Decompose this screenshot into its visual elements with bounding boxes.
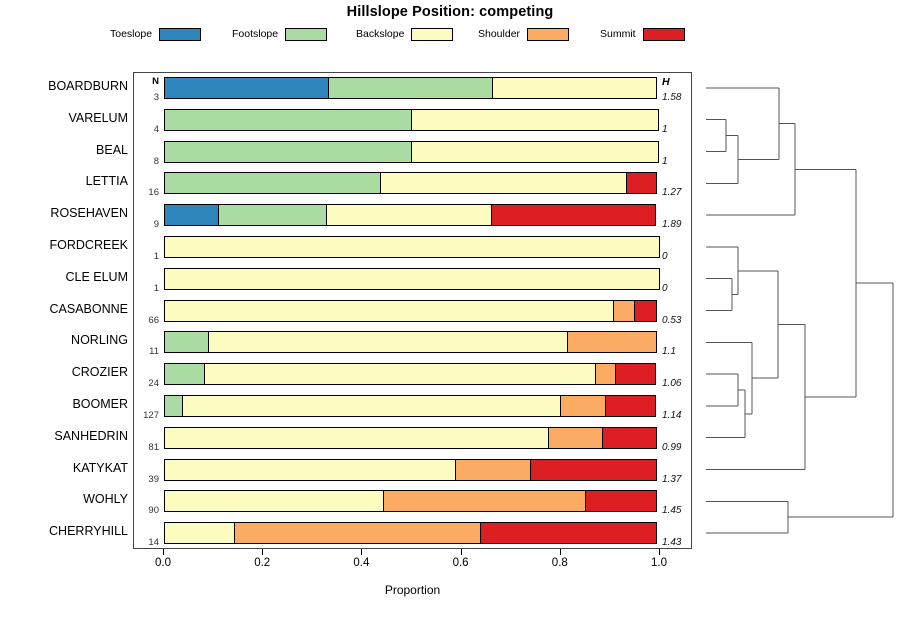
bar-segment-summit[interactable] <box>585 490 657 512</box>
bar-row <box>134 300 693 322</box>
bar-segment-backslope[interactable] <box>380 172 628 194</box>
bar-segment-footslope[interactable] <box>164 141 412 163</box>
bar-segment-footslope[interactable] <box>164 363 205 385</box>
bar-row <box>134 204 693 226</box>
stacked-bar[interactable] <box>164 236 660 258</box>
stacked-bar[interactable] <box>164 331 660 353</box>
bar-segment-toeslope[interactable] <box>164 77 329 99</box>
stacked-bar[interactable] <box>164 363 660 385</box>
bar-row <box>134 395 693 417</box>
bar-segment-backslope[interactable] <box>411 109 659 131</box>
dendrogram-svg <box>700 72 896 549</box>
x-tick <box>163 549 164 555</box>
bar-row <box>134 459 693 481</box>
x-tick <box>262 549 263 555</box>
bar-segment-backslope[interactable] <box>164 522 235 544</box>
bar-row <box>134 109 693 131</box>
stacked-bar[interactable] <box>164 141 660 163</box>
y-axis-label-wohly: WOHLY <box>0 492 128 506</box>
bar-row <box>134 427 693 449</box>
bar-segment-backslope[interactable] <box>164 300 615 322</box>
legend-item-backslope: Backslope <box>356 25 453 43</box>
y-axis-label-boardburn: BOARDBURN <box>0 79 128 93</box>
bar-segment-shoulder[interactable] <box>383 490 587 512</box>
y-axis-label-sanhedrin: SANHEDRIN <box>0 429 128 443</box>
stacked-bar[interactable] <box>164 172 660 194</box>
y-axis-label-rosehaven: ROSEHAVEN <box>0 206 128 220</box>
x-axis-title: Proportion <box>133 583 692 597</box>
bar-segment-summit[interactable] <box>615 363 656 385</box>
y-axis-label-norling: NORLING <box>0 333 128 347</box>
y-axis-labels: BOARDBURNVARELUMBEALLETTIAROSEHAVENFORDC… <box>0 72 128 549</box>
y-axis-label-varelum: VARELUM <box>0 111 128 125</box>
bar-row <box>134 77 693 99</box>
x-tick <box>659 549 660 555</box>
bar-row <box>134 268 693 290</box>
y-axis-label-lettia: LETTIA <box>0 174 128 188</box>
y-axis-label-katykat: KATYKAT <box>0 461 128 475</box>
stacked-bar[interactable] <box>164 522 660 544</box>
x-tick-label: 0.6 <box>453 557 469 569</box>
bar-segment-summit[interactable] <box>602 427 657 449</box>
bar-segment-footslope[interactable] <box>218 204 328 226</box>
legend-swatch-backslope <box>411 28 453 41</box>
legend-swatch-shoulder <box>527 28 569 41</box>
bar-segment-shoulder[interactable] <box>455 459 531 481</box>
y-axis-label-beal: BEAL <box>0 143 128 157</box>
y-axis-label-boomer: BOOMER <box>0 397 128 411</box>
bar-segment-backslope[interactable] <box>164 459 457 481</box>
legend-item-shoulder: Shoulder <box>478 25 569 43</box>
bar-segment-summit[interactable] <box>626 172 657 194</box>
x-tick-label: 0.8 <box>552 557 568 569</box>
bar-segment-footslope[interactable] <box>164 109 412 131</box>
legend-swatch-toeslope <box>159 28 201 41</box>
legend-item-summit: Summit <box>600 25 685 43</box>
dendrogram <box>700 72 896 549</box>
bar-segment-shoulder[interactable] <box>567 331 657 353</box>
stacked-bar[interactable] <box>164 459 660 481</box>
bar-segment-backslope[interactable] <box>208 331 569 353</box>
bar-segment-backslope[interactable] <box>492 77 658 99</box>
x-tick-label: 0.4 <box>353 557 369 569</box>
bar-segment-footslope[interactable] <box>164 331 209 353</box>
bar-segment-shoulder[interactable] <box>595 363 616 385</box>
bar-segment-summit[interactable] <box>530 459 657 481</box>
bar-segment-backslope[interactable] <box>326 204 492 226</box>
bar-segment-footslope[interactable] <box>164 395 183 417</box>
bar-segment-summit[interactable] <box>480 522 657 544</box>
bar-row <box>134 490 693 512</box>
bar-row <box>134 522 693 544</box>
y-axis-label-fordcreek: FORDCREEK <box>0 238 128 252</box>
bar-segment-backslope[interactable] <box>411 141 659 163</box>
bar-row <box>134 363 693 385</box>
y-axis-label-crozier: CROZIER <box>0 365 128 379</box>
y-axis-label-cherryhill: CHERRYHILL <box>0 524 128 538</box>
chart-title: Hillslope Position: competing <box>0 4 900 20</box>
bar-row <box>134 141 693 163</box>
stacked-bar[interactable] <box>164 109 660 131</box>
bar-segment-backslope[interactable] <box>164 490 384 512</box>
bar-segment-summit[interactable] <box>491 204 656 226</box>
legend-label: Backslope <box>356 28 404 40</box>
bar-segment-backslope[interactable] <box>164 268 660 290</box>
x-tick <box>560 549 561 555</box>
stacked-bar[interactable] <box>164 395 660 417</box>
legend-item-footslope: Footslope <box>232 25 327 43</box>
bar-row <box>134 236 693 258</box>
legend-item-toeslope: Toeslope <box>110 25 201 43</box>
bar-segment-backslope[interactable] <box>204 363 597 385</box>
bar-segment-backslope[interactable] <box>164 236 660 258</box>
legend-label: Footslope <box>232 28 278 40</box>
legend-label: Shoulder <box>478 28 520 40</box>
bar-segment-footslope[interactable] <box>328 77 493 99</box>
bar-segment-shoulder[interactable] <box>560 395 607 417</box>
legend: ToeslopeFootslopeBackslopeShoulderSummit <box>110 25 800 43</box>
legend-swatch-summit <box>643 28 685 41</box>
bar-segment-shoulder[interactable] <box>234 522 482 544</box>
stacked-bar[interactable] <box>164 300 660 322</box>
bar-segment-shoulder[interactable] <box>613 300 635 322</box>
legend-label: Summit <box>600 28 636 40</box>
figure-root: Hillslope Position: competing ToeslopeFo… <box>0 0 900 620</box>
x-tick-label: 0.0 <box>155 557 171 569</box>
stacked-bar[interactable] <box>164 204 660 226</box>
bar-row <box>134 331 693 353</box>
bar-segment-footslope[interactable] <box>164 172 381 194</box>
bar-segment-shoulder[interactable] <box>548 427 603 449</box>
stacked-bar[interactable] <box>164 268 660 290</box>
stacked-bar[interactable] <box>164 490 660 512</box>
bar-segment-toeslope[interactable] <box>164 204 219 226</box>
stacked-bar[interactable] <box>164 427 660 449</box>
bar-segment-backslope[interactable] <box>164 427 550 449</box>
stacked-bar[interactable] <box>164 77 660 99</box>
x-tick-label: 0.2 <box>254 557 270 569</box>
bar-panel: NH31.584181161.2791.891010660.53111.1241… <box>133 72 692 549</box>
x-tick-label: 1.0 <box>651 557 667 569</box>
bar-segment-summit[interactable] <box>634 300 657 322</box>
x-tick <box>461 549 462 555</box>
y-axis-label-cle-elum: CLE ELUM <box>0 270 128 284</box>
bar-segment-summit[interactable] <box>605 395 656 417</box>
bar-row <box>134 172 693 194</box>
y-axis-label-casabonne: CASABONNE <box>0 302 128 316</box>
legend-swatch-footslope <box>285 28 327 41</box>
x-tick <box>361 549 362 555</box>
bar-segment-backslope[interactable] <box>182 395 561 417</box>
legend-label: Toeslope <box>110 28 152 40</box>
